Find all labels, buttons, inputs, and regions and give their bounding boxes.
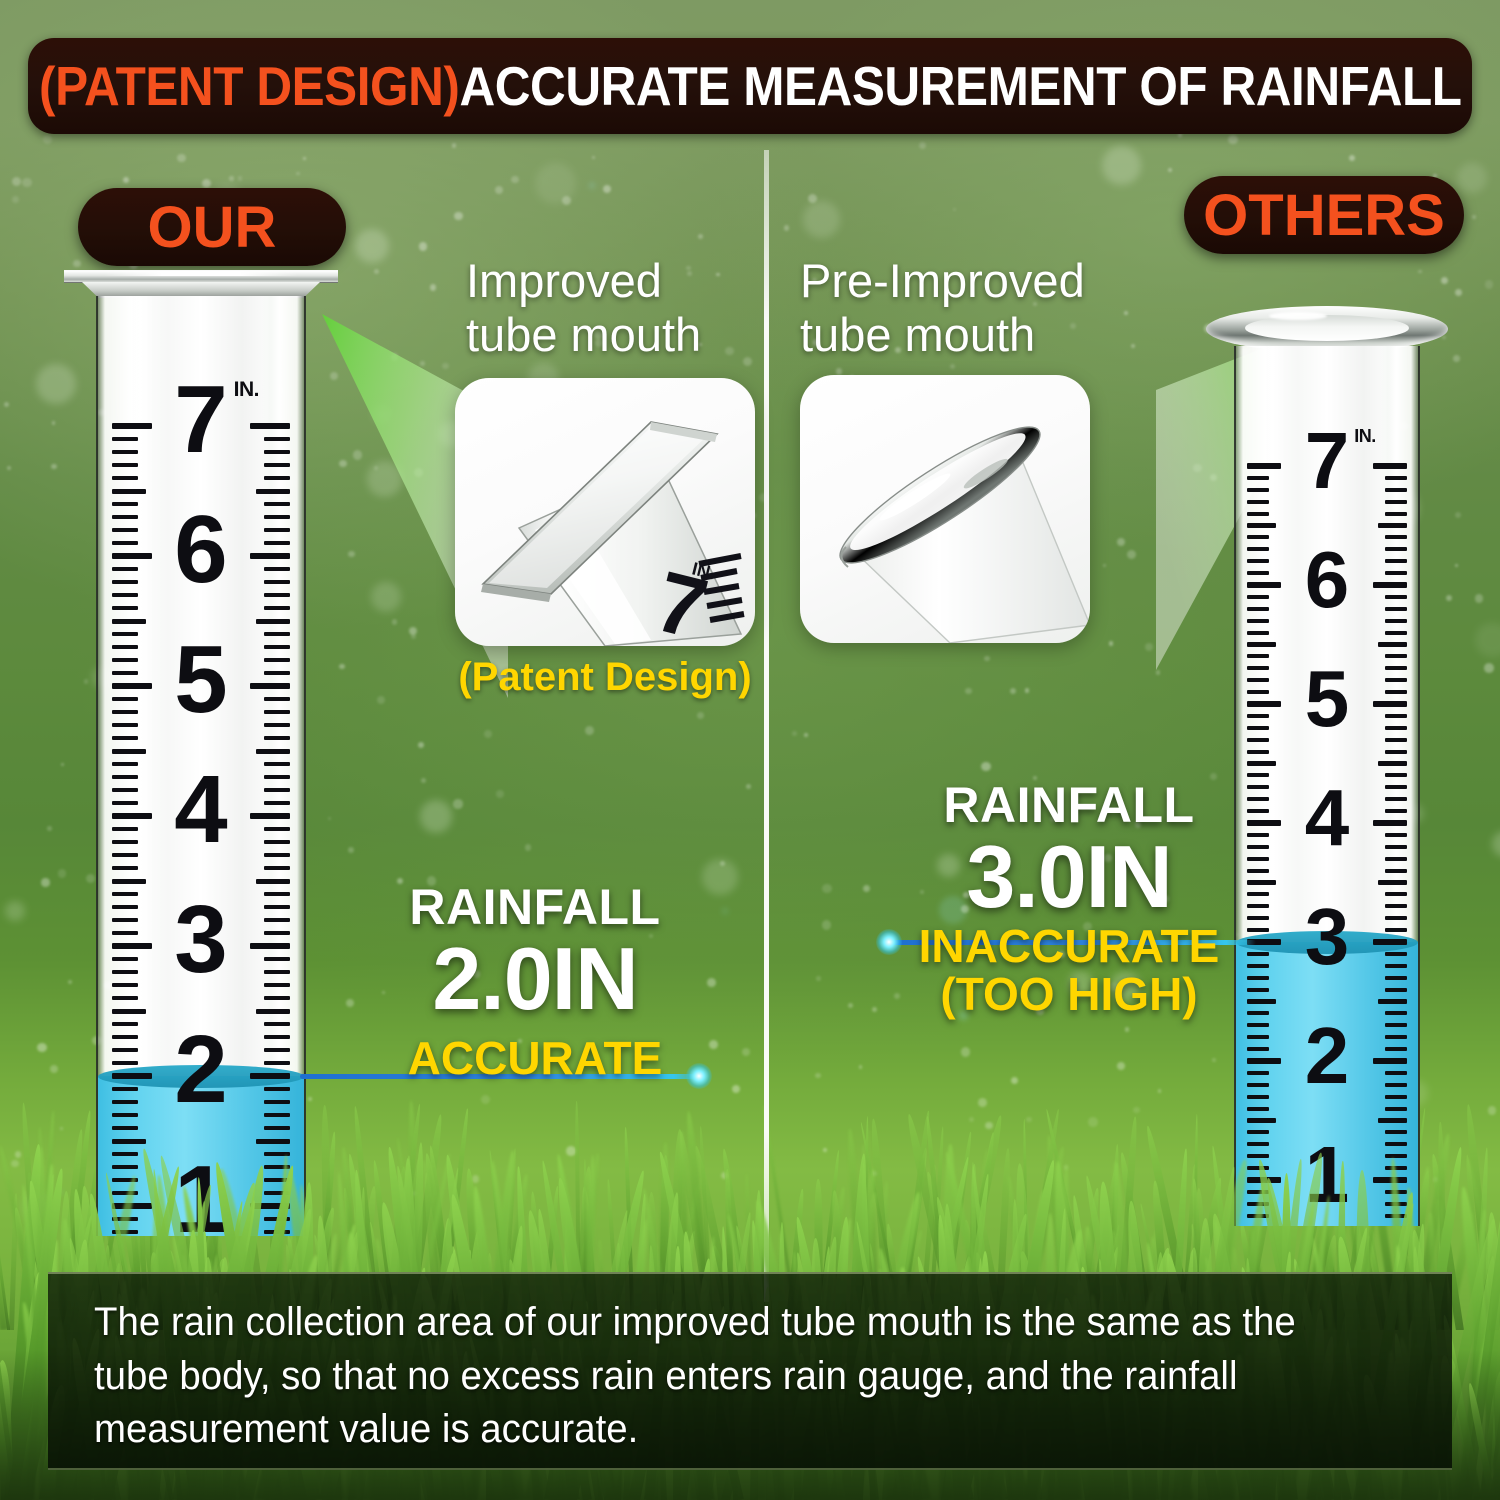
callout-left-value: 2.0IN	[370, 936, 700, 1022]
title-preimproved-line2: tube mouth	[800, 308, 1085, 362]
scale-number: 4	[96, 762, 306, 858]
inset-improved-tube-mouth: 7 IN.	[455, 378, 755, 646]
scale-number: 7	[1234, 421, 1420, 501]
scale-number: 3	[96, 892, 306, 988]
badge-our: OUR	[78, 188, 346, 266]
title-improved-line2: tube mouth	[466, 308, 701, 362]
callout-our-verdict: ACCURATE	[370, 1034, 700, 1082]
footer-note-text: The rain collection area of our improved…	[94, 1296, 1354, 1457]
scale-number: 4	[1234, 778, 1420, 858]
title-preimproved-line1: Pre-Improved	[800, 254, 1085, 308]
title-preimproved-tube-mouth: Pre-Improved tube mouth	[800, 254, 1085, 361]
verdict-accurate: ACCURATE	[370, 1034, 700, 1082]
callout-right-label: RAINFALL	[894, 776, 1244, 834]
header-highlight: (PATENT DESIGN)	[39, 55, 459, 117]
scale-number: 5	[96, 632, 306, 728]
infographic-stage: (PATENT DESIGN)ACCURATE MEASUREMENT OF R…	[0, 0, 1500, 1500]
callout-right-value: 3.0IN	[894, 834, 1244, 920]
scale-unit-label: IN.	[1354, 426, 1376, 447]
inset-preimproved-tube-mouth	[800, 375, 1090, 643]
improved-mouth-illustration: 7 IN.	[455, 378, 755, 646]
scale-number: 7	[96, 372, 306, 468]
header-title-text: ACCURATE MEASUREMENT OF RAINFALL	[459, 55, 1461, 117]
callout-our-rainfall: RAINFALL 2.0IN	[370, 878, 700, 1022]
verdict-inaccurate-line1: INACCURATE	[894, 922, 1244, 970]
callout-left-label: RAINFALL	[370, 878, 700, 936]
footer-note-panel: The rain collection area of our improved…	[48, 1272, 1452, 1470]
callout-others-rainfall: RAINFALL 3.0IN	[894, 776, 1244, 920]
scale-number: 5	[1234, 659, 1420, 739]
scale-number: 3	[1234, 897, 1420, 977]
scale-number: 6	[1234, 540, 1420, 620]
callout-others-verdict: INACCURATE (TOO HIGH)	[894, 922, 1244, 1019]
header-banner: (PATENT DESIGN)ACCURATE MEASUREMENT OF R…	[28, 38, 1472, 134]
scale-number: 6	[96, 502, 306, 598]
header-title: (PATENT DESIGN)ACCURATE MEASUREMENT OF R…	[39, 54, 1462, 118]
preimproved-mouth-illustration	[800, 375, 1090, 643]
title-improved-tube-mouth: Improved tube mouth	[466, 254, 701, 361]
caption-patent-design: (Patent Design)	[455, 655, 755, 700]
title-improved-line1: Improved	[466, 254, 701, 308]
badge-others: OTHERS	[1184, 176, 1464, 254]
verdict-inaccurate-line2: (TOO HIGH)	[894, 970, 1244, 1018]
scale-unit-label: IN.	[234, 378, 259, 402]
